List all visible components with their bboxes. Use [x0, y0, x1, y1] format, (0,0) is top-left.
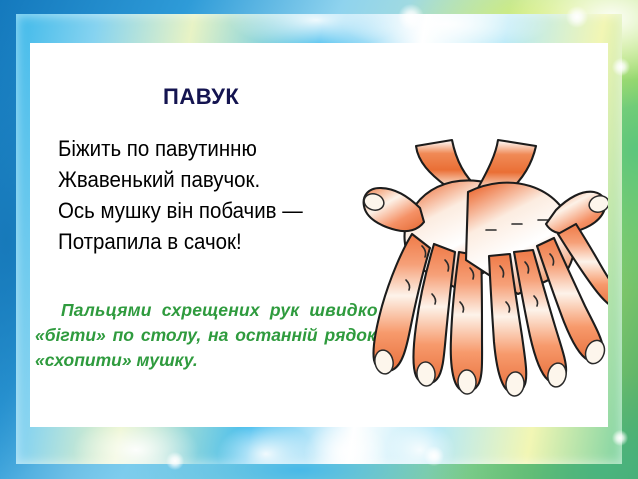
content-card: ПАВУК Біжить по павутинню Жвавенький пав… [30, 43, 608, 427]
poem-line: Жвавенький павучок. [58, 164, 346, 195]
instructions-block: Пальцями схрещених рук швидко «бігти» по… [35, 298, 365, 373]
instruction-line: Пальцями схрещених рук швидко [35, 298, 365, 323]
poem-line: Біжить по павутинню [58, 133, 346, 164]
poem-line: Ось мушку він побачив — [58, 195, 346, 226]
poem-block: Біжить по павутинню Жвавенький павучок. … [58, 133, 368, 257]
page-title: ПАВУК [163, 84, 239, 110]
hands-illustration [360, 138, 608, 408]
slide-canvas: ПАВУК Біжить по павутинню Жвавенький пав… [0, 0, 638, 479]
poem-line: Потрапила в сачок! [58, 226, 346, 257]
instruction-line: «схопити» мушку. [35, 348, 365, 373]
instruction-line: «бігти» по столу, на останній рядок [35, 323, 365, 348]
